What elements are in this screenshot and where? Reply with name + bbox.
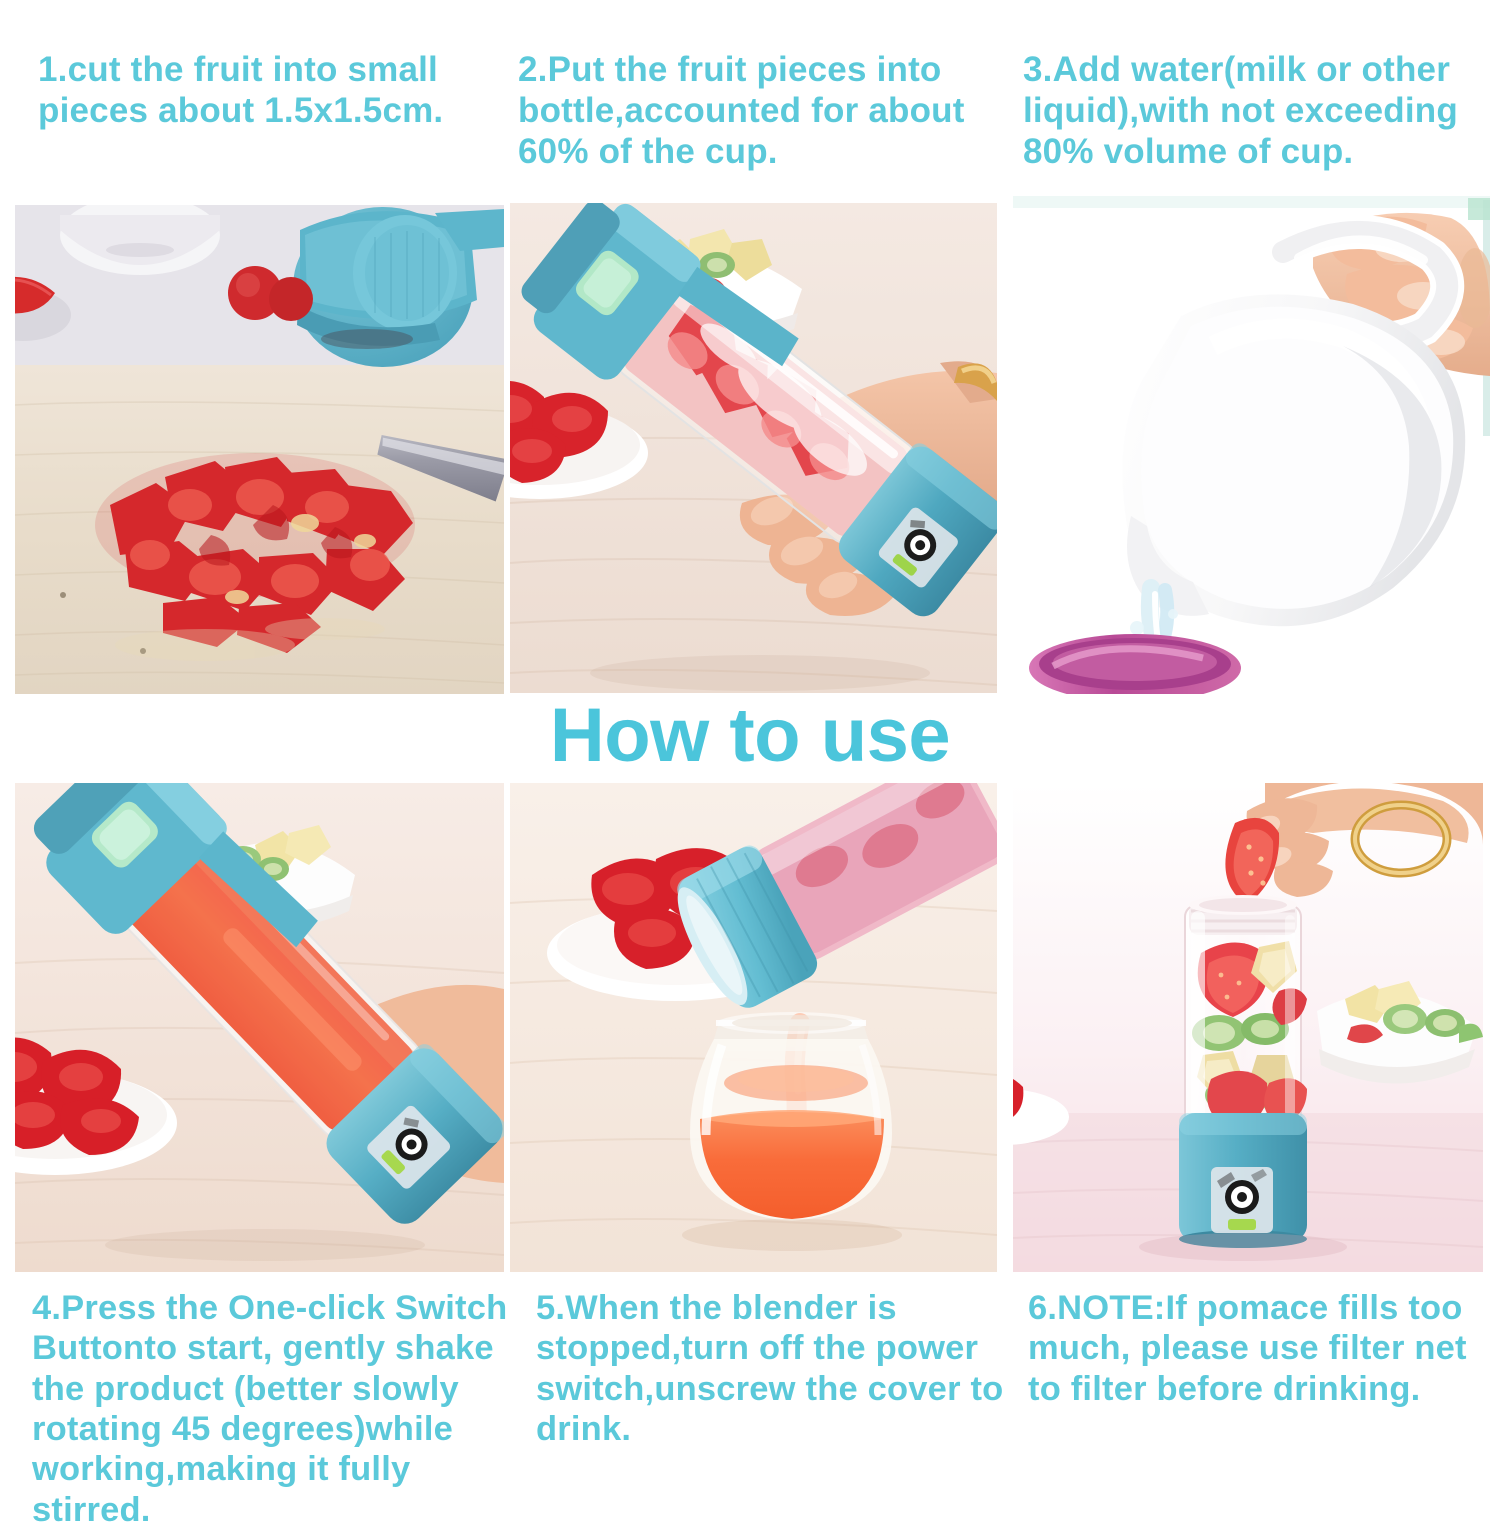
step-1-caption: 1.cut the fruit into small pieces about … — [38, 50, 493, 132]
page-title: How to use — [0, 698, 1500, 774]
step-4-photo — [15, 783, 504, 1272]
how-to-use-infographic: 1.cut the fruit into small pieces about … — [0, 0, 1500, 1500]
step-6-caption: 6.NOTE:If pomace fills too much, please … — [1028, 1288, 1498, 1409]
step-3-caption: 3.Add water(milk or other liquid),with n… — [1023, 50, 1498, 173]
step-6-photo — [1013, 783, 1483, 1272]
step-4-caption: 4.Press the One-click Switch Buttonto st… — [32, 1288, 517, 1530]
step-2-caption: 2.Put the fruit pieces into bottle,accou… — [518, 50, 988, 173]
step-1-photo — [15, 205, 504, 694]
step-2-photo — [510, 203, 997, 693]
step-5-photo — [510, 783, 997, 1272]
step-3-photo — [1013, 196, 1490, 694]
step-5-caption: 5.When the blender is stopped,turn off t… — [536, 1288, 1006, 1449]
